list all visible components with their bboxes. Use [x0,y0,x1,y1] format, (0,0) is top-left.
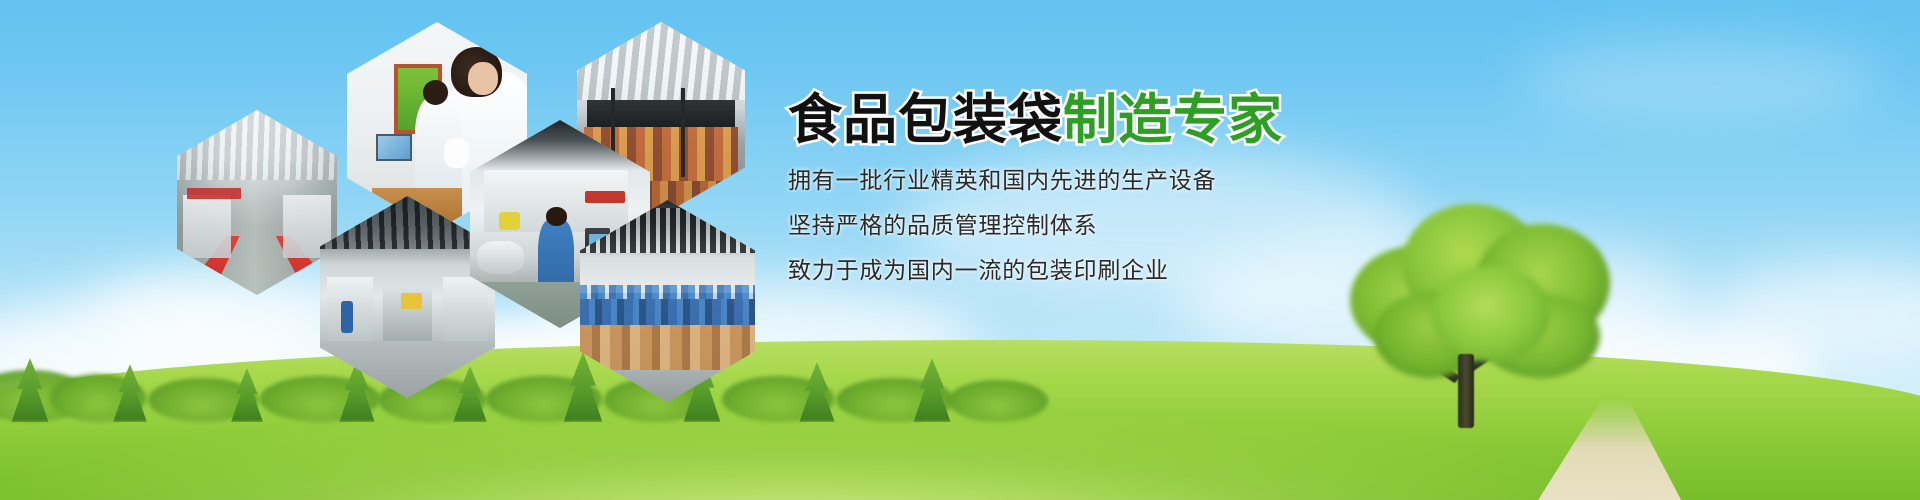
photo-conveyor-dark [587,100,735,127]
photo-worker-head [546,207,568,226]
subheading-list: 拥有一批行业精英和国内先进的生产设备 坚持严格的品质管理控制体系 致力于成为国内… [788,170,1548,283]
promo-banner: 食品包装袋制造专家 拥有一批行业精英和国内先进的生产设备 坚持严格的品质管理控制… [0,0,1920,500]
subheading-line-3: 致力于成为国内一流的包装印刷企业 [788,260,1548,283]
treeline-bush [948,380,1048,422]
photo-concrete-floor [320,341,495,398]
headline-dark-part: 食品包装袋 [788,88,1063,151]
photo-second-head [423,80,448,105]
page-title: 食品包装袋制造专家 [788,92,1548,148]
photo-monitor [376,134,412,161]
headline-green-part: 制造专家 [1063,88,1283,151]
photo-carton-row [580,325,755,373]
photo-ceiling-beams [177,110,337,180]
photo-worker-caps [580,285,755,299]
photo-machine-right [443,277,489,346]
tree-trunk [1458,354,1474,428]
subheading-line-2: 坚持严格的品质管理控制体系 [788,215,1548,238]
hex-tile-workshop-floor[interactable] [320,196,495,398]
subheading-line-1: 拥有一批行业精英和国内先进的生产设备 [788,170,1548,193]
headline-copy-block: 食品包装袋制造专家 拥有一批行业精英和国内先进的生产设备 坚持严格的品质管理控制… [788,92,1548,283]
cloud-top-right [1520,40,1880,120]
photo-glove [444,138,469,167]
photo-banner-strip [187,188,241,199]
photo-floor [580,370,755,402]
hex-tile-printing-hall[interactable] [177,110,337,295]
photo-red-label [585,191,625,203]
photo-frame-posts [681,88,685,177]
photo-machine-row [183,195,231,258]
photo-yellow-coil [499,212,521,231]
photo-yellow-roll [401,293,422,309]
photo-film-roll [477,241,524,274]
photo-worker-blue [341,301,353,333]
hex-photo-cluster [0,0,820,400]
photo-ceiling-trusses [577,22,745,100]
photo-technician-face [468,62,499,95]
